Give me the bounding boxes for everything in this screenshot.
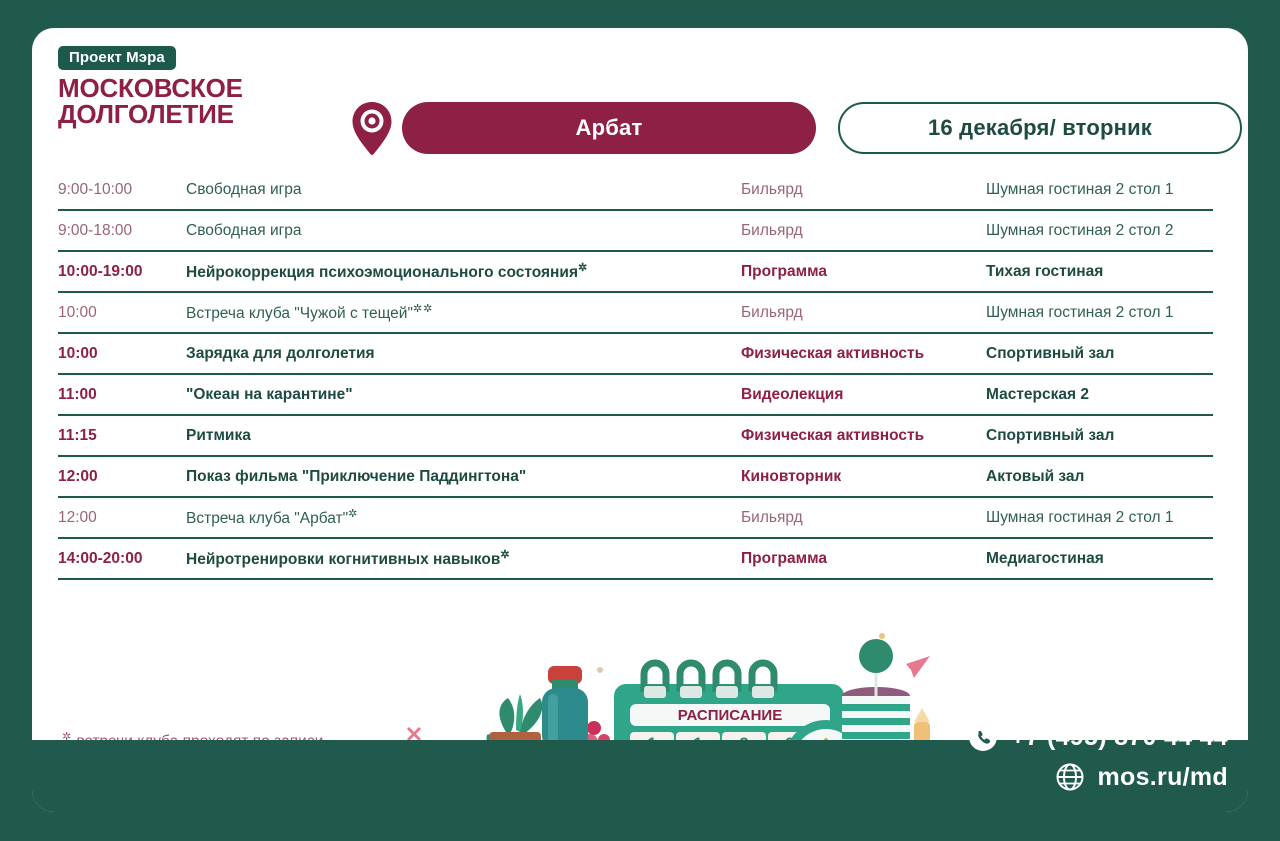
- schedule-title: Нейрокоррекция психоэмоционального состо…: [186, 261, 741, 282]
- schedule-time: 12:00: [58, 468, 186, 486]
- location-pill[interactable]: Арбат: [402, 102, 816, 154]
- phone-number: +7 (495) 870 44 44: [1011, 723, 1228, 752]
- schedule-row[interactable]: 14:00-20:00Нейротренировки когнитивных н…: [58, 539, 1213, 580]
- schedule-location: Шумная гостиная 2 стол 1: [986, 181, 1213, 199]
- schedule-location: Шумная гостиная 2 стол 1: [986, 304, 1213, 322]
- schedule-location: Тихая гостиная: [986, 263, 1213, 281]
- schedule-time: 9:00-10:00: [58, 181, 186, 199]
- schedule-category: Физическая активность: [741, 427, 986, 445]
- schedule-title-footnote-marker: ✲✲: [413, 303, 433, 315]
- footer-green-band: +7 (495) 870 44 44 mos.ru/md: [32, 740, 1248, 812]
- schedule-location: Медиагостиная: [986, 550, 1213, 568]
- poster-header: Проект Мэра МОСКОВСКОЕ ДОЛГОЛЕТИЕ Арбат: [32, 28, 1248, 148]
- schedule-row[interactable]: 9:00-18:00Свободная играБильярдШумная го…: [58, 211, 1213, 252]
- schedule-location: Шумная гостиная 2 стол 2: [986, 222, 1213, 240]
- schedule-location: Актовый зал: [986, 468, 1213, 486]
- schedule-title: "Океан на карантине": [186, 386, 741, 404]
- date-label: 16 декабря/ вторник: [928, 115, 1152, 141]
- contact-block: +7 (495) 870 44 44 mos.ru/md: [968, 722, 1228, 802]
- schedule-category: Физическая активность: [741, 345, 986, 363]
- schedule-row[interactable]: 11:00"Океан на карантине"ВидеолекцияМаст…: [58, 375, 1213, 416]
- brand-logo: МОСКОВСКОЕ ДОЛГОЛЕТИЕ: [58, 75, 308, 127]
- schedule-title-text: Показ фильма "Приключение Паддингтона": [186, 468, 526, 485]
- schedule-category: Киновторник: [741, 468, 986, 486]
- schedule-category: Программа: [741, 263, 986, 281]
- schedule-title-text: Зарядка для долголетия: [186, 345, 375, 362]
- schedule-title: Показ фильма "Приключение Паддингтона": [186, 468, 741, 486]
- website-url: mos.ru/md: [1098, 763, 1229, 792]
- phone-icon: [968, 722, 998, 752]
- schedule-time: 10:00: [58, 304, 186, 322]
- schedule-row[interactable]: 10:00-19:00Нейрокоррекция психоэмоционал…: [58, 252, 1213, 293]
- schedule-title-text: Встреча клуба "Чужой с тещей": [186, 305, 413, 322]
- schedule-time: 11:15: [58, 427, 186, 445]
- globe-icon: [1055, 762, 1085, 792]
- schedule-title-text: Ритмика: [186, 427, 251, 444]
- schedule-category: Программа: [741, 550, 986, 568]
- schedule-title: Встреча клуба "Арбат"✲: [186, 507, 741, 528]
- schedule-title: Ритмика: [186, 427, 741, 445]
- schedule-table: 9:00-10:00Свободная играБильярдШумная го…: [58, 170, 1213, 580]
- schedule-row[interactable]: 10:00Встреча клуба "Чужой с тещей"✲✲Биль…: [58, 293, 1213, 334]
- schedule-row[interactable]: 9:00-10:00Свободная играБильярдШумная го…: [58, 170, 1213, 211]
- schedule-location: Спортивный зал: [986, 427, 1213, 445]
- schedule-title-footnote-marker: ✲: [500, 549, 510, 561]
- schedule-title-footnote-marker: ✲: [348, 508, 358, 520]
- location-name: Арбат: [576, 115, 643, 141]
- schedule-location: Спортивный зал: [986, 345, 1213, 363]
- schedule-category: Бильярд: [741, 181, 986, 199]
- schedule-row[interactable]: 12:00Показ фильма "Приключение Паддингто…: [58, 457, 1213, 498]
- date-pill[interactable]: 16 декабря/ вторник: [838, 102, 1242, 154]
- schedule-time: 11:00: [58, 386, 186, 404]
- brand-logo-line2: ДОЛГОЛЕТИЕ: [58, 101, 308, 127]
- schedule-row[interactable]: 10:00Зарядка для долголетияФизическая ак…: [58, 334, 1213, 375]
- poster-root: Проект Мэра МОСКОВСКОЕ ДОЛГОЛЕТИЕ Арбат: [0, 0, 1280, 841]
- schedule-title-text: Нейротренировки когнитивных навыков: [186, 551, 500, 568]
- website-line[interactable]: mos.ru/md: [968, 762, 1228, 792]
- schedule-title: Нейротренировки когнитивных навыков✲: [186, 548, 741, 569]
- schedule-row[interactable]: 11:15РитмикаФизическая активностьСпортив…: [58, 416, 1213, 457]
- schedule-category: Видеолекция: [741, 386, 986, 404]
- schedule-title-text: "Океан на карантине": [186, 386, 353, 403]
- schedule-time: 14:00-20:00: [58, 550, 186, 568]
- schedule-title-text: Свободная игра: [186, 181, 302, 198]
- schedule-time: 9:00-18:00: [58, 222, 186, 240]
- schedule-title-text: Свободная игра: [186, 222, 302, 239]
- schedule-title: Встреча клуба "Чужой с тещей"✲✲: [186, 302, 741, 323]
- schedule-category: Бильярд: [741, 304, 986, 322]
- schedule-title: Свободная игра: [186, 181, 741, 199]
- svg-text:РАСПИСАНИЕ: РАСПИСАНИЕ: [678, 707, 782, 724]
- schedule-title-text: Нейрокоррекция психоэмоционального состо…: [186, 264, 578, 281]
- poster-card: Проект Мэра МОСКОВСКОЕ ДОЛГОЛЕТИЕ Арбат: [32, 28, 1248, 812]
- schedule-title-footnote-marker: ✲: [578, 262, 588, 274]
- schedule-location: Мастерская 2: [986, 386, 1213, 404]
- schedule-category: Бильярд: [741, 222, 986, 240]
- schedule-category: Бильярд: [741, 509, 986, 527]
- schedule-time: 10:00: [58, 345, 186, 363]
- mayor-project-badge: Проект Мэра: [58, 46, 176, 70]
- brand-block: Проект Мэра МОСКОВСКОЕ ДОЛГОЛЕТИЕ: [58, 46, 308, 127]
- schedule-location: Шумная гостиная 2 стол 1: [986, 509, 1213, 527]
- schedule-title-text: Встреча клуба "Арбат": [186, 510, 348, 527]
- schedule-time: 10:00-19:00: [58, 263, 186, 281]
- schedule-title: Свободная игра: [186, 222, 741, 240]
- schedule-time: 12:00: [58, 509, 186, 527]
- schedule-title: Зарядка для долголетия: [186, 345, 741, 363]
- location-pin-icon: [349, 100, 395, 156]
- phone-line[interactable]: +7 (495) 870 44 44: [968, 722, 1228, 752]
- schedule-row[interactable]: 12:00Встреча клуба "Арбат"✲БильярдШумная…: [58, 498, 1213, 539]
